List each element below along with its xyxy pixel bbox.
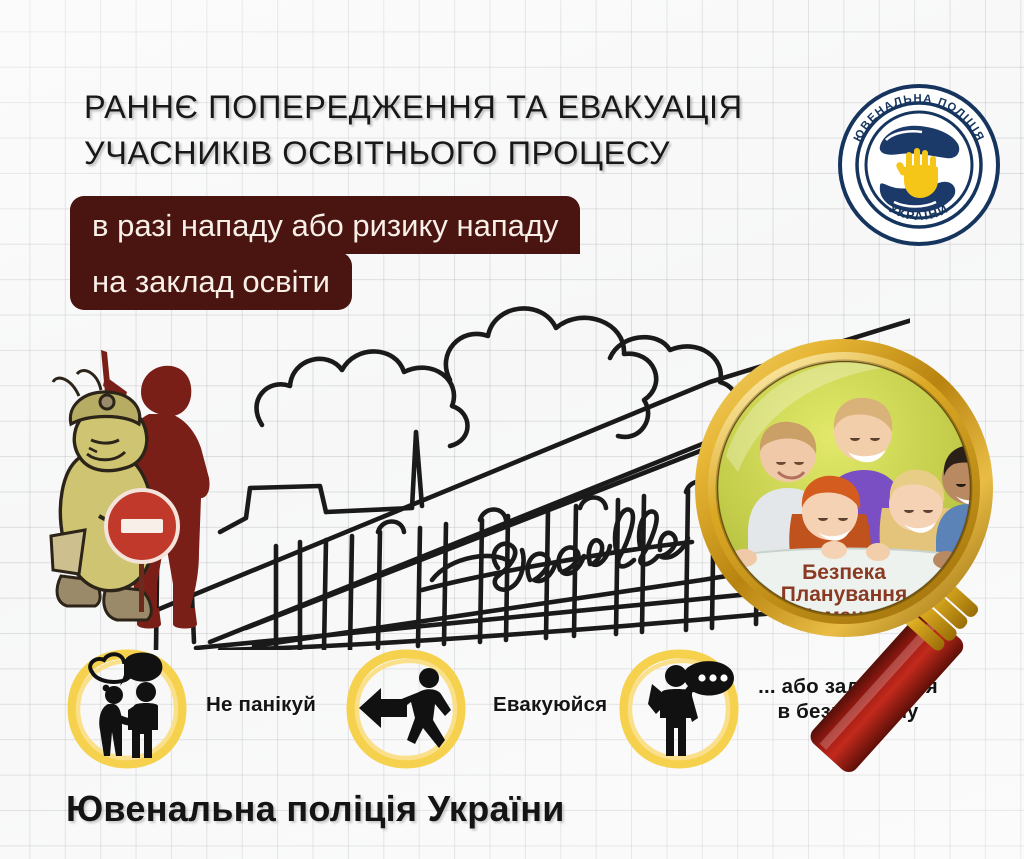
subtitle-banner-line-2: на заклад освіти bbox=[70, 252, 352, 310]
page-title-line-1: РАННЄ ПОПЕРЕДЖЕННЯ ТА ЕВАКУАЦІЯ bbox=[84, 84, 844, 130]
advice-item-evacuate: Евакуюйся bbox=[345, 640, 625, 780]
two-people-talking-icon bbox=[66, 648, 188, 770]
subtitle-banner: в разі нападу або ризику нападу на закла… bbox=[70, 196, 580, 310]
page-title: РАННЄ ПОПЕРЕДЖЕННЯ ТА ЕВАКУАЦІЯ УЧАСНИКІ… bbox=[84, 84, 844, 176]
advice-caption-do-not-panic: Не панікуй bbox=[206, 692, 316, 717]
soldier-and-mascot-illustration bbox=[45, 348, 255, 633]
magnifier-illustration: Безпека Планування Команда bbox=[692, 336, 1024, 788]
caption-line: Евакуюйся bbox=[493, 692, 607, 717]
page-title-line-2: УЧАСНИКІВ ОСВІТНЬОГО ПРОЦЕСУ bbox=[84, 130, 844, 176]
advice-item-do-not-panic: Не панікуй bbox=[66, 640, 336, 780]
magnifier-banner-line-2: Планування bbox=[781, 583, 907, 606]
advice-caption-evacuate: Евакуюйся bbox=[493, 692, 607, 717]
exit-running-person-icon bbox=[345, 648, 467, 770]
footer-organization-name: Ювенальна поліція України bbox=[66, 788, 565, 830]
caption-line: Не панікуй bbox=[206, 692, 316, 717]
juvenile-police-logo: ЮВЕНАЛЬНА ПОЛІЦІЯ УКРАЇНИ bbox=[836, 82, 1002, 248]
subtitle-banner-line-1: в разі нападу або ризику нападу bbox=[70, 196, 580, 254]
poster-canvas: РАННЄ ПОПЕРЕДЖЕННЯ ТА ЕВАКУАЦІЯ УЧАСНИКІ… bbox=[0, 0, 1024, 859]
magnifier-banner-line-1: Безпека bbox=[802, 561, 886, 584]
